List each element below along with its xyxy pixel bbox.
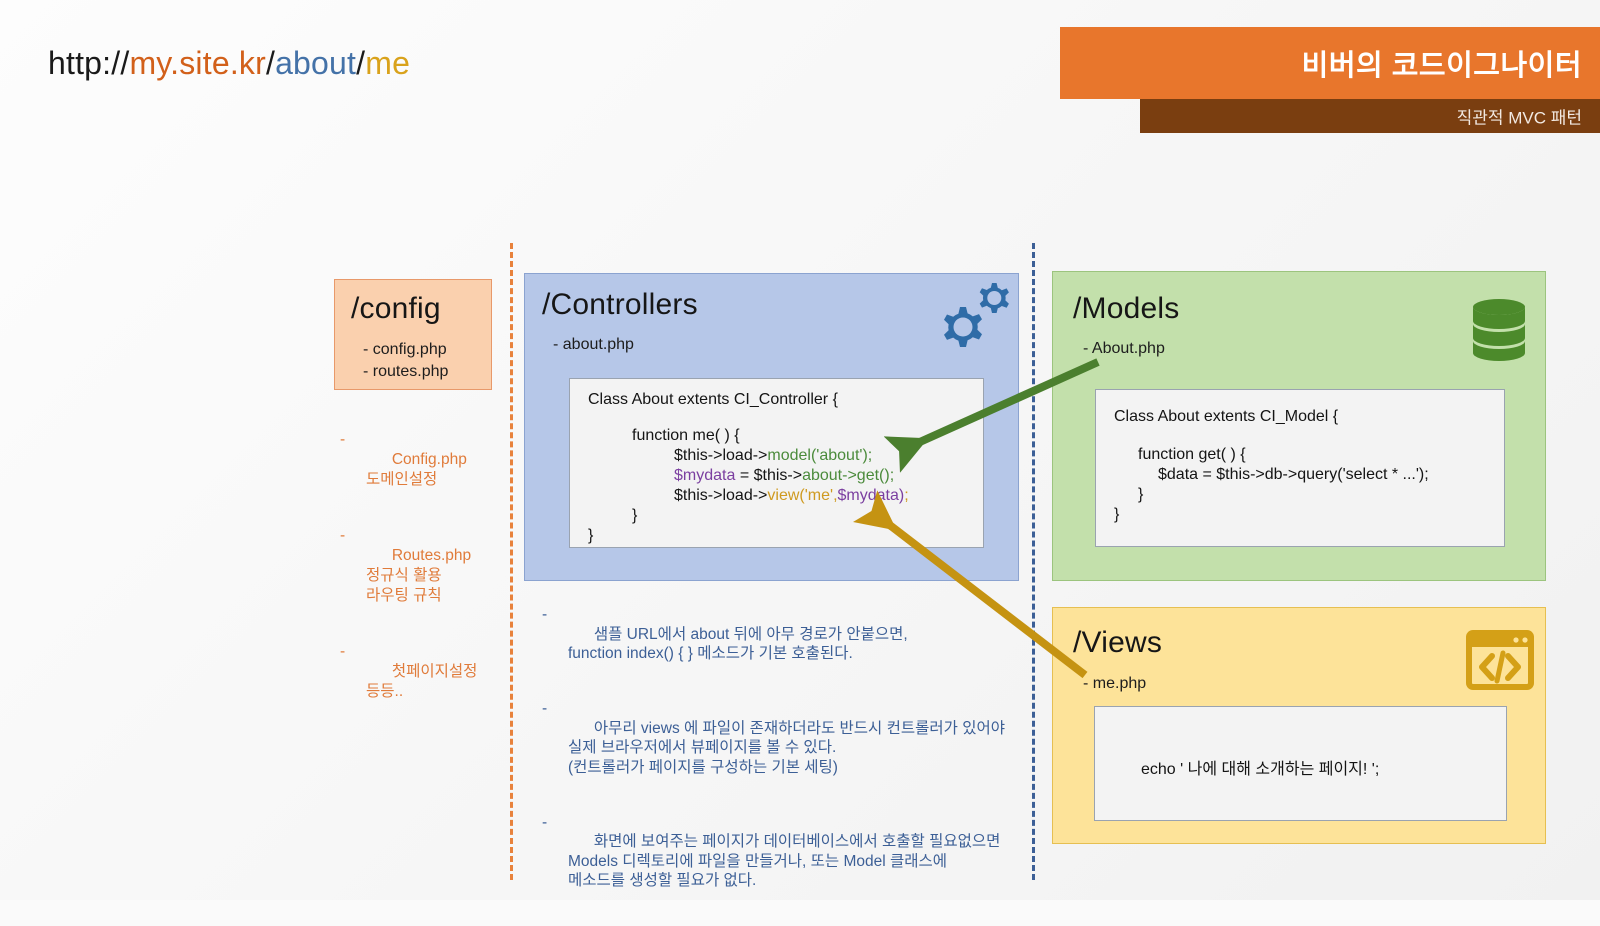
model-code-line-2: function get( ) {	[1138, 446, 1246, 464]
controller-code-line-1: Class About extents CI_Controller {	[588, 391, 838, 409]
config-note-text: Config.php 도메인설정	[366, 451, 467, 488]
url-domain: my.site.kr	[129, 45, 266, 81]
controller-code-box: Class About extents CI_Controller { func…	[569, 378, 984, 548]
header-subtitle: 직관적 MVC 패턴	[1457, 104, 1582, 129]
controller-notes-list: -샘플 URL에서 about 뒤에 아무 경로가 안붙으면, function…	[540, 605, 1010, 926]
bullet-dash: -	[542, 699, 547, 719]
config-panel-title: /config	[351, 292, 441, 326]
bullet-dash: -	[542, 605, 547, 625]
controller-code-line-7: }	[588, 527, 593, 545]
code-token-view: view('me',	[767, 487, 837, 504]
controller-note-item: -아무리 views 에 파일이 존재하더라도 반드시 컨트롤러가 있어야 실제…	[540, 699, 1010, 797]
bullet-dash: -	[340, 430, 345, 450]
header-title-bar: 비버의 코드이그나이터	[1060, 27, 1600, 99]
config-note-item: -Config.php 도메인설정	[340, 430, 500, 510]
views-file-label: - me.php	[1083, 675, 1146, 693]
config-note-text: Routes.php 정규식 활용 라우팅 규칙	[366, 547, 471, 604]
url-segment-me: me	[365, 45, 410, 81]
controller-code-line-6: }	[632, 507, 637, 525]
model-code-line-1: Class About extents CI_Model {	[1114, 408, 1338, 426]
model-code-box: Class About extents CI_Model { function …	[1095, 389, 1505, 547]
url-segment-about: about	[275, 45, 356, 81]
model-code-line-5: }	[1114, 506, 1119, 524]
controller-code-line-3: $this->load->model('about');	[674, 447, 872, 465]
config-note-item: -첫페이지설정 등등..	[340, 642, 500, 722]
views-panel-title: /Views	[1073, 626, 1162, 660]
url-slash-1: /	[266, 45, 275, 81]
controller-note-item: -화면에 보여주는 페이지가 데이터베이스에서 호출할 필요없으면 Models…	[540, 813, 1010, 911]
code-token-get: about->get();	[802, 467, 894, 484]
code-token-model: model('about');	[767, 447, 872, 464]
header-subtitle-bar: 직관적 MVC 패턴	[1140, 99, 1600, 133]
config-notes-list: -Config.php 도메인설정 -Routes.php 정규식 활용 라우팅…	[340, 430, 500, 738]
code-token-plain: $this->load->	[674, 447, 767, 464]
slide-canvas: 비버의 코드이그나이터 직관적 MVC 패턴 http://my.site.kr…	[0, 0, 1600, 900]
model-code-line-4: }	[1138, 486, 1143, 504]
code-token-plain: = $this->	[735, 467, 802, 484]
config-note-item: -Routes.php 정규식 활용 라우팅 규칙	[340, 526, 500, 626]
code-window-icon	[1466, 630, 1534, 690]
code-token-mydata-arg: $mydata)	[838, 487, 905, 504]
code-token-mydata: $mydata	[674, 467, 735, 484]
bullet-dash: -	[340, 526, 345, 546]
controller-code-line-5: $this->load->view('me',$mydata);	[674, 487, 909, 505]
code-token-plain: $this->load->	[674, 487, 767, 504]
models-file-label: - About.php	[1083, 340, 1165, 358]
model-code-line-3: $data = $this->db->query('select * ...')…	[1158, 466, 1429, 484]
database-icon	[1466, 297, 1532, 363]
config-file-list: - config.php - routes.php	[363, 339, 448, 383]
config-note-text: 첫페이지설정 등등..	[366, 663, 477, 700]
header-title: 비버의 코드이그나이터	[1302, 42, 1582, 84]
bullet-dash: -	[340, 642, 345, 662]
bullet-dash: -	[542, 813, 547, 833]
controllers-file-label: - about.php	[553, 336, 634, 354]
view-code-box: echo ' 나에 대해 소개하는 페이지! ';	[1094, 706, 1507, 821]
controller-code-line-4: $mydata = $this->about->get();	[674, 467, 894, 485]
view-code-line-1: echo ' 나에 대해 소개하는 페이지! ';	[1141, 755, 1379, 779]
gears-icon	[922, 281, 1014, 359]
config-panel: /config - config.php - routes.php	[334, 279, 492, 390]
models-panel-title: /Models	[1073, 292, 1179, 326]
url-scheme: http://	[48, 45, 129, 81]
controller-note-item: -샘플 URL에서 about 뒤에 아무 경로가 안붙으면, function…	[540, 605, 1010, 683]
code-token-semicolon: ;	[904, 487, 908, 504]
sample-url: http://my.site.kr/about/me	[48, 45, 410, 82]
controller-note-text: 화면에 보여주는 페이지가 데이터베이스에서 호출할 필요없으면 Models …	[568, 833, 1000, 889]
controller-note-text: 아무리 views 에 파일이 존재하더라도 반드시 컨트롤러가 있어야 실제 …	[568, 720, 1005, 776]
controller-code-line-2: function me( ) {	[632, 427, 740, 445]
controllers-panel-title: /Controllers	[542, 288, 698, 322]
url-slash-2: /	[356, 45, 365, 81]
controller-note-text: 샘플 URL에서 about 뒤에 아무 경로가 안붙으면, function …	[568, 626, 908, 663]
models-divider	[1032, 243, 1035, 880]
config-divider	[510, 243, 513, 880]
